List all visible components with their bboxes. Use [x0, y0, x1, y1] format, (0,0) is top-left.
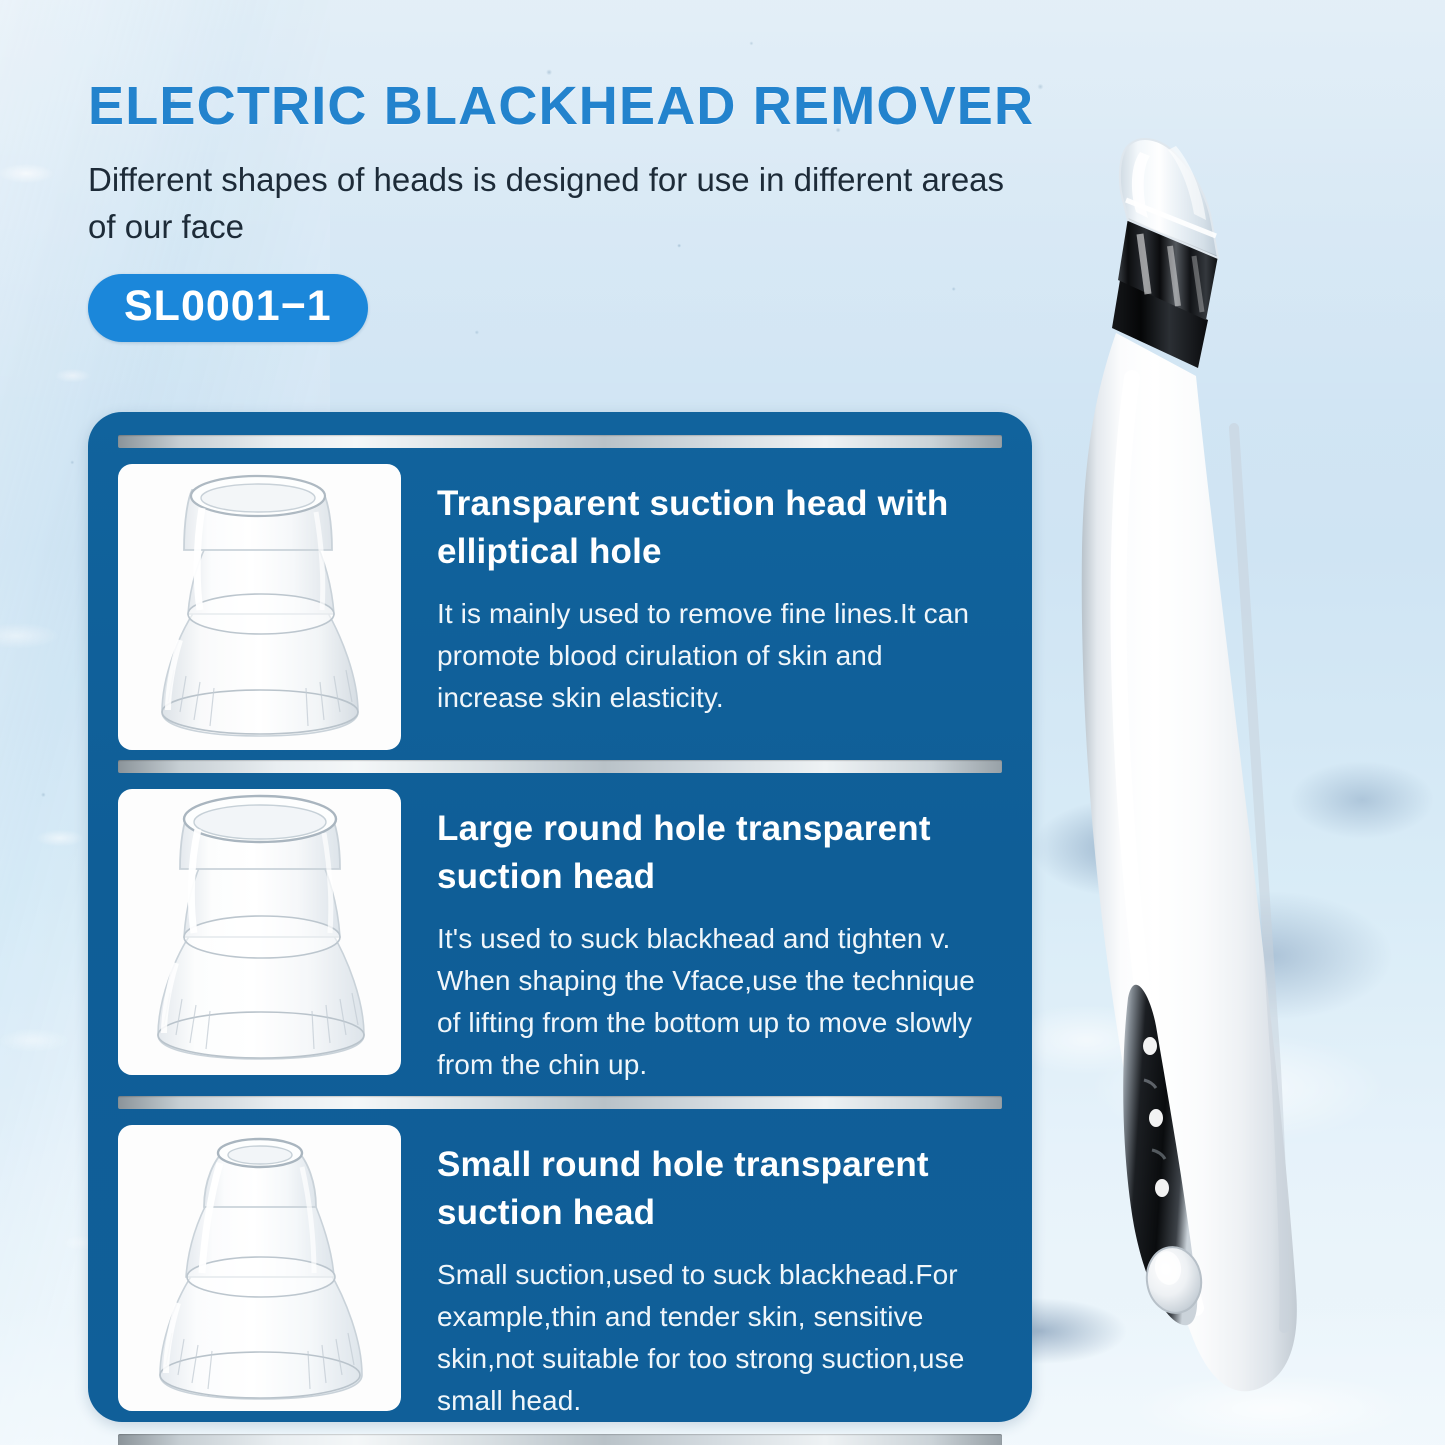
feature-card: Small round hole transparent suction hea… — [118, 1109, 1002, 1422]
suction-head-thumbnail — [118, 464, 401, 750]
page-subtitle: Different shapes of heads is designed fo… — [88, 157, 1028, 251]
head-mid-rim — [188, 594, 334, 634]
head-large-round-hole-inner — [194, 805, 326, 839]
led-indicator-dot — [1149, 1109, 1163, 1127]
feature-card-description: Small suction,used to suck blackhead.For… — [437, 1254, 996, 1422]
suction-head-thumbnail — [118, 789, 401, 1075]
suction-head-thumbnail — [118, 1125, 401, 1411]
feature-card-title: Large round hole transparent suction hea… — [437, 805, 996, 900]
feature-card-description: It's used to suck blackhead and tighten … — [437, 918, 996, 1086]
feature-card: Large round hole transparent suction hea… — [118, 773, 1002, 1086]
led-indicator-dot — [1155, 1179, 1169, 1197]
feature-card-text: Large round hole transparent suction hea… — [437, 789, 1002, 1086]
features-panel: Transparent suction head with elliptical… — [88, 412, 1032, 1422]
sku-badge: SL0001−1 — [88, 274, 368, 342]
head-small-round-hole-inner — [228, 1146, 292, 1164]
feature-card-title: Small round hole transparent suction hea… — [437, 1141, 996, 1236]
head-mid-rim — [184, 916, 340, 958]
suction-head-large-round-icon — [118, 789, 401, 1075]
feature-card-text: Small round hole transparent suction hea… — [437, 1125, 1002, 1422]
separator-bar-middle-2 — [118, 1096, 1002, 1109]
led-indicator-dot — [1143, 1037, 1157, 1055]
page-title: ELECTRIC BLACKHEAD REMOVER — [88, 78, 1088, 135]
suction-head-small-round-icon — [118, 1125, 401, 1411]
infographic-page: ELECTRIC BLACKHEAD REMOVER Different sha… — [0, 0, 1445, 1445]
separator-bar-bottom — [118, 1434, 1002, 1445]
feature-card: Transparent suction head with elliptical… — [118, 448, 1002, 750]
suction-head-elliptical-icon — [118, 464, 401, 750]
header: ELECTRIC BLACKHEAD REMOVER Different sha… — [88, 78, 1088, 342]
head-elliptical-hole-inner — [201, 484, 315, 512]
feature-card-text: Transparent suction head with elliptical… — [437, 464, 1002, 719]
feature-card-title: Transparent suction head with elliptical… — [437, 480, 996, 575]
feature-card-description: It is mainly used to remove fine lines.I… — [437, 593, 996, 719]
separator-bar-middle-1 — [118, 760, 1002, 773]
separator-bar-top — [118, 435, 1002, 448]
